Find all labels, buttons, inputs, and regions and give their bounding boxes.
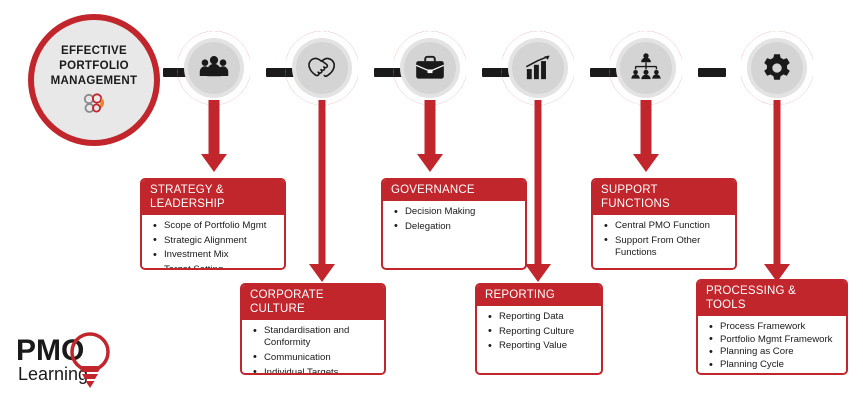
box-item-list: Scope of Portfolio Mgmt Strategic Alignm… xyxy=(148,220,278,270)
list-item: Scope of Portfolio Mgmt xyxy=(164,220,278,232)
pmo-flow-mark-icon xyxy=(81,92,107,116)
box-body: Process Framework Portfolio Mgmt Framewo… xyxy=(698,316,846,375)
box-body: Decision Making Delegation xyxy=(383,201,525,241)
list-item: Reporting Value xyxy=(499,340,595,352)
arrow-to-support-functions xyxy=(631,100,661,172)
list-item: Communication xyxy=(264,352,378,364)
box-item-list: Central PMO Function Support From Other … xyxy=(599,220,729,259)
arrow-to-governance xyxy=(415,100,445,172)
hub-title-line-2: PORTFOLIO xyxy=(59,59,129,74)
box-item-list: Process Framework Portfolio Mgmt Framewo… xyxy=(704,321,840,375)
list-item: Process Framework xyxy=(720,321,840,333)
box-item-list: Decision Making Delegation xyxy=(389,206,519,233)
hub-title-line-3: MANAGEMENT xyxy=(51,74,138,89)
box-body: Standardisation and Conformity Communica… xyxy=(242,320,384,375)
box-reporting[interactable]: REPORTING Reporting Data Reporting Cultu… xyxy=(475,283,603,375)
node-processing-tools[interactable] xyxy=(740,31,814,105)
org-chart-icon xyxy=(629,51,663,85)
node-corporate-culture[interactable] xyxy=(285,31,359,105)
box-corporate-culture[interactable]: CORPORATE CULTURE Standardisation and Co… xyxy=(240,283,386,375)
box-processing-tools[interactable]: PROCESSING & TOOLS Process Framework Por… xyxy=(696,279,848,375)
node-support-functions[interactable] xyxy=(609,31,683,105)
box-title: CORPORATE CULTURE xyxy=(242,285,384,320)
box-support-functions[interactable]: SUPPORT FUNCTIONS Central PMO Function S… xyxy=(591,178,737,270)
hub-effective-portfolio-management[interactable]: EFFECTIVE PORTFOLIO MANAGEMENT xyxy=(28,14,160,146)
box-body: Central PMO Function Support From Other … xyxy=(593,215,735,268)
bar-chart-arrow-icon xyxy=(521,51,555,85)
list-item: Tooling & Processes xyxy=(720,372,840,375)
arrow-to-corporate-culture xyxy=(307,100,337,282)
box-title: SUPPORT FUNCTIONS xyxy=(593,180,735,215)
box-strategy-leadership[interactable]: STRATEGY & LEADERSHIP Scope of Portfolio… xyxy=(140,178,286,270)
list-item: Decision Making xyxy=(405,206,519,218)
list-item: Central PMO Function xyxy=(615,220,729,232)
box-body: Reporting Data Reporting Culture Reporti… xyxy=(477,306,601,361)
briefcase-icon xyxy=(413,51,447,85)
list-item: Delegation xyxy=(405,221,519,233)
list-item: Portfolio Mgmt Framework xyxy=(720,334,840,346)
people-group-icon xyxy=(197,51,231,85)
box-title: PROCESSING & TOOLS xyxy=(698,281,846,316)
list-item: Individual Targets xyxy=(264,367,378,375)
list-item: Support From Other Functions xyxy=(615,235,729,259)
arrow-to-processing-tools xyxy=(762,100,792,282)
list-item: Planning as Core xyxy=(720,346,840,358)
box-title: GOVERNANCE xyxy=(383,180,525,201)
arrow-to-reporting xyxy=(523,100,553,282)
list-item: Strategic Alignment xyxy=(164,235,278,247)
list-item: Reporting Culture xyxy=(499,326,595,338)
box-governance[interactable]: GOVERNANCE Decision Making Delegation xyxy=(381,178,527,270)
box-title: REPORTING xyxy=(477,285,601,306)
pmo-learning-logo: PMO Learning xyxy=(16,330,128,394)
node-governance[interactable] xyxy=(393,31,467,105)
list-item: Standardisation and Conformity xyxy=(264,325,378,349)
node-reporting[interactable] xyxy=(501,31,575,105)
box-item-list: Standardisation and Conformity Communica… xyxy=(248,325,378,375)
arrow-to-strategy-leadership xyxy=(199,100,229,172)
node-strategy-leadership[interactable] xyxy=(177,31,251,105)
connector-dash-6 xyxy=(698,68,726,77)
list-item: Target Setting xyxy=(164,264,278,270)
list-item: Reporting Data xyxy=(499,311,595,323)
handshake-icon xyxy=(305,51,339,85)
box-body: Scope of Portfolio Mgmt Strategic Alignm… xyxy=(142,215,284,270)
box-title: STRATEGY & LEADERSHIP xyxy=(142,180,284,215)
gear-icon xyxy=(760,51,794,85)
box-item-list: Reporting Data Reporting Culture Reporti… xyxy=(483,311,595,353)
diagram-canvas: EFFECTIVE PORTFOLIO MANAGEMENT xyxy=(0,0,863,408)
list-item: Planning Cycle xyxy=(720,359,840,371)
hub-title-line-1: EFFECTIVE xyxy=(61,44,127,59)
list-item: Investment Mix xyxy=(164,249,278,261)
